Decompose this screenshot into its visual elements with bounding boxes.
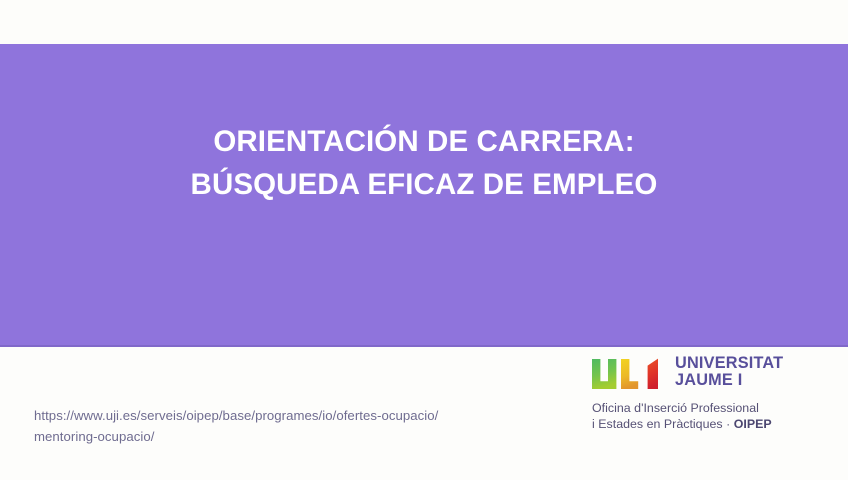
subtitle-acronym: OIPEP <box>734 417 772 431</box>
subtitle-line-2: i Estades en Pràctiques · OIPEP <box>592 416 824 433</box>
page-title: ORIENTACIÓN DE CARRERA: BÚSQUEDA EFICAZ … <box>151 121 698 207</box>
oipep-subtitle: Oficina d'Inserció Professional i Estade… <box>592 400 824 433</box>
url-line-2: mentoring-ocupacio/ <box>34 426 524 447</box>
subtitle-line-1: Oficina d'Inserció Professional <box>592 400 824 417</box>
uji-brand-lockup: UNIVERSITAT JAUME I Oficina d'Inserció P… <box>592 355 824 433</box>
source-url[interactable]: https://www.uji.es/serveis/oipep/base/pr… <box>34 405 524 448</box>
slide-canvas: ORIENTACIÓN DE CARRERA: BÚSQUEDA EFICAZ … <box>0 0 848 480</box>
url-line-1: https://www.uji.es/serveis/oipep/base/pr… <box>34 405 524 426</box>
uji-wordmark: UNIVERSITAT JAUME I <box>675 355 783 390</box>
title-line-1: ORIENTACIÓN DE CARRERA: <box>191 121 658 164</box>
footer-area: https://www.uji.es/serveis/oipep/base/pr… <box>0 347 848 480</box>
uji-logo-icon <box>592 358 666 390</box>
top-white-margin <box>0 0 848 44</box>
brand-top-row: UNIVERSITAT JAUME I <box>592 355 824 390</box>
hero-purple-band: ORIENTACIÓN DE CARRERA: BÚSQUEDA EFICAZ … <box>0 44 848 347</box>
wordmark-line-1: UNIVERSITAT <box>675 355 783 372</box>
title-line-2: BÚSQUEDA EFICAZ DE EMPLEO <box>191 164 658 207</box>
wordmark-line-2: JAUME I <box>675 372 783 389</box>
subtitle-line-2-text: i Estades en Pràctiques · <box>592 417 734 431</box>
